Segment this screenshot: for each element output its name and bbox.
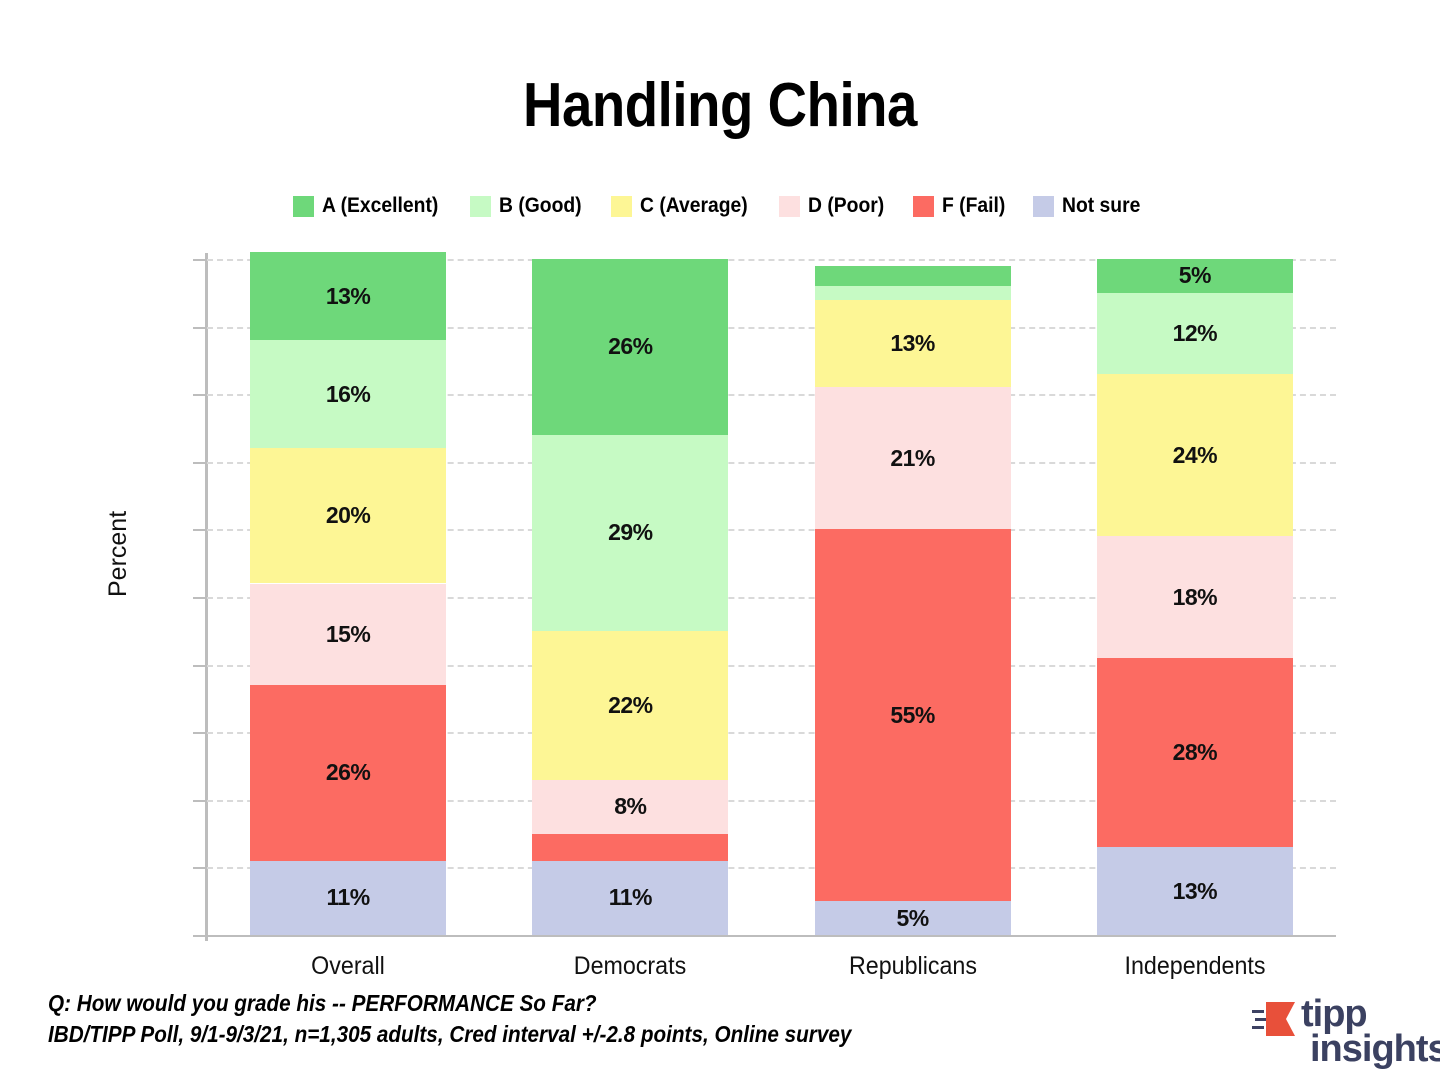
bar-segment[interactable]: 13%: [815, 300, 1011, 388]
bar-segment[interactable]: 24%: [1097, 374, 1293, 536]
bar-segment[interactable]: 16%: [250, 340, 446, 448]
y-tick-mark: [193, 800, 205, 802]
y-tick-mark: [193, 732, 205, 734]
bar-segment-label: 16%: [326, 381, 371, 408]
bar-segment-label: 5%: [1179, 262, 1211, 289]
bar-segment[interactable]: 55%: [815, 529, 1011, 901]
y-tick-mark: [193, 394, 205, 396]
bar-group-republicans: 5%55%21%13%: [815, 259, 1011, 935]
bar-segment[interactable]: 13%: [1097, 847, 1293, 935]
bar-segment-label: 11%: [609, 884, 652, 911]
bar-segment-label: 20%: [326, 502, 371, 529]
bar-segment[interactable]: 28%: [1097, 658, 1293, 847]
gridline: [207, 935, 1336, 937]
logo-line-2: insights: [1310, 1032, 1440, 1067]
footnote: Q: How would you grade his -- PERFORMANC…: [48, 988, 851, 1050]
bar-segment-label: 13%: [890, 330, 935, 357]
bar-segment-label: 8%: [614, 793, 646, 820]
bar-segment[interactable]: 21%: [815, 387, 1011, 529]
bar-segment-label: 26%: [326, 759, 371, 786]
bar-segment-label: 21%: [890, 445, 935, 472]
bar-segment-label: 22%: [608, 692, 653, 719]
bar-segment-label: 11%: [326, 884, 369, 911]
bar-segment-label: 12%: [1173, 320, 1218, 347]
y-tick-mark: [193, 665, 205, 667]
bar-segment-label: 13%: [1173, 878, 1218, 905]
bar-group-independents: 13%28%18%24%12%5%: [1097, 259, 1293, 935]
y-tick-mark: [193, 529, 205, 531]
tipp-arrow-icon: [1252, 1002, 1294, 1036]
y-tick-mark: [193, 597, 205, 599]
bar-segment[interactable]: 12%: [1097, 293, 1293, 374]
x-axis-label-republicans: Republicans: [782, 952, 1042, 981]
y-axis-title: Percent: [104, 511, 133, 597]
chart-plot: 1009080706050403020100 Percent 11%26%15%…: [0, 0, 1440, 1080]
bar-segment-label: 55%: [890, 702, 935, 729]
bar-segment[interactable]: 26%: [532, 259, 728, 435]
bar-group-overall: 11%26%15%20%16%13%: [250, 259, 446, 935]
bar-segment[interactable]: 15%: [250, 584, 446, 685]
bar-segment-label: 26%: [608, 333, 653, 360]
bar-segment[interactable]: 13%: [250, 252, 446, 340]
bar-segment[interactable]: 8%: [532, 780, 728, 834]
y-tick-mark: [193, 462, 205, 464]
bar-segment-label: 24%: [1173, 442, 1218, 469]
bar-segment[interactable]: 5%: [1097, 259, 1293, 293]
bar-segment-label: 15%: [326, 621, 371, 648]
y-tick-mark: [193, 259, 205, 261]
bar-segment-label: 28%: [1173, 739, 1218, 766]
plot-area: 11%26%15%20%16%13%11%8%22%29%26%5%55%21%…: [207, 259, 1336, 935]
bar-segment[interactable]: 11%: [250, 861, 446, 935]
bar-segment[interactable]: 11%: [532, 861, 728, 935]
bar-segment-label: 5%: [897, 905, 929, 932]
bar-segment[interactable]: [815, 286, 1011, 300]
tipp-insights-logo: tipp insights: [1252, 997, 1440, 1067]
bar-segment[interactable]: 5%: [815, 901, 1011, 935]
bar-segment[interactable]: 20%: [250, 448, 446, 583]
x-axis-label-independents: Independents: [1065, 952, 1325, 981]
bar-segment[interactable]: [532, 834, 728, 861]
bar-group-democrats: 11%8%22%29%26%: [532, 259, 728, 935]
footnote-source: IBD/TIPP Poll, 9/1-9/3/21, n=1,305 adult…: [48, 1019, 851, 1050]
bar-segment-label: 29%: [608, 519, 653, 546]
bar-segment[interactable]: 22%: [532, 631, 728, 780]
bar-segment[interactable]: [815, 266, 1011, 286]
bar-segment[interactable]: 18%: [1097, 536, 1293, 658]
x-axis-label-democrats: Democrats: [500, 952, 760, 981]
footnote-question: Q: How would you grade his -- PERFORMANC…: [48, 988, 851, 1019]
bar-segment-label: 18%: [1173, 584, 1218, 611]
bar-segment[interactable]: 29%: [532, 435, 728, 631]
y-tick-mark: [193, 327, 205, 329]
x-axis-label-overall: Overall: [218, 952, 478, 981]
y-tick-mark: [193, 935, 205, 937]
logo-wordmark: tipp insights: [1301, 997, 1440, 1067]
y-tick-mark: [193, 867, 205, 869]
bar-segment[interactable]: 26%: [250, 685, 446, 861]
bar-segment-label: 13%: [326, 283, 371, 310]
